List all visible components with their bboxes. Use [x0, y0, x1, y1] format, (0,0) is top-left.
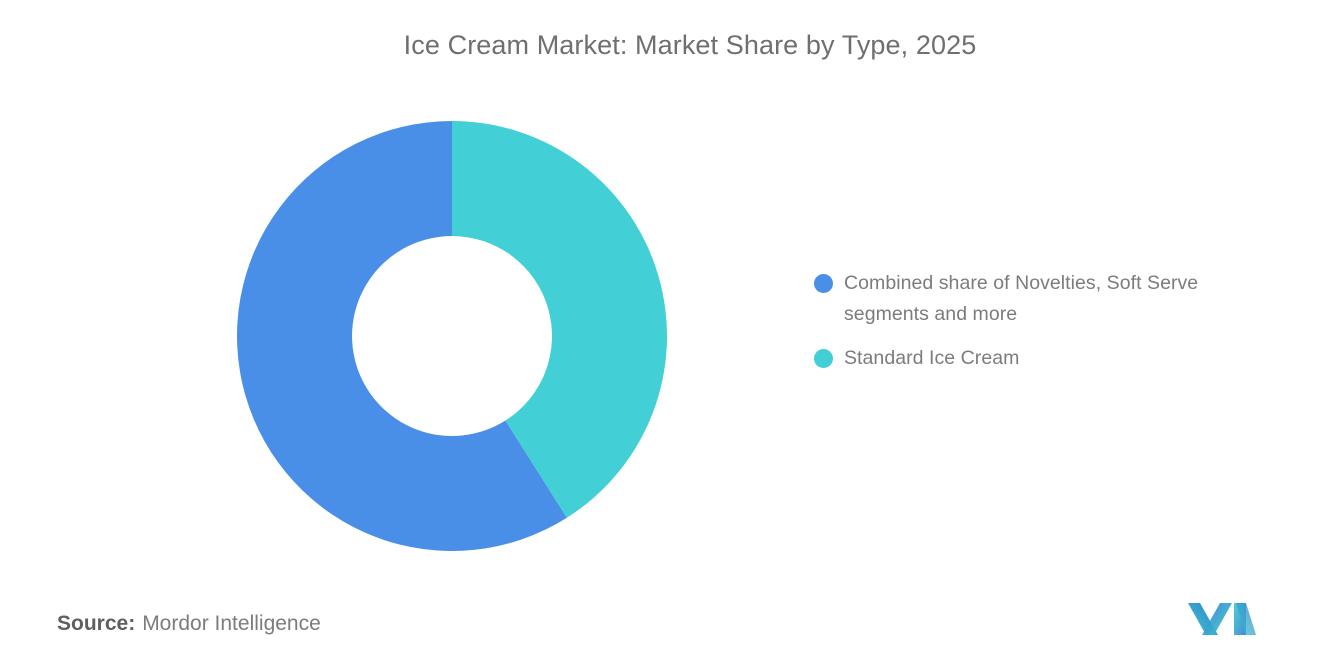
logo-svg [1186, 597, 1258, 639]
source-value: Mordor Intelligence [142, 612, 321, 635]
legend-label-standard-ice-cream: Standard Ice Cream [844, 343, 1264, 374]
source-label: Source: [57, 612, 135, 635]
chart-canvas: Ice Cream Market: Market Share by Type, … [0, 0, 1320, 665]
page-title: Ice Cream Market: Market Share by Type, … [0, 30, 1320, 61]
legend-swatch-standard-ice-cream [814, 349, 833, 368]
legend-label-combined-share: Combined share of Novelties, Soft Serve … [844, 268, 1264, 330]
legend-swatch-combined-share [814, 274, 833, 293]
chart-legend: Combined share of Novelties, Soft Serve … [812, 268, 1282, 387]
chart-title-text: Ice Cream Market: Market Share by Type, … [404, 30, 977, 61]
donut-chart [237, 121, 667, 551]
donut-chart-svg [237, 121, 667, 551]
legend-item-combined-share[interactable]: Combined share of Novelties, Soft Serve … [812, 268, 1282, 330]
donut-slice-group [237, 121, 667, 551]
source-attribution: Source:Mordor Intelligence [57, 612, 321, 636]
legend-item-standard-ice-cream[interactable]: Standard Ice Cream [812, 343, 1282, 374]
mordor-intelligence-logo-icon [1186, 597, 1258, 639]
